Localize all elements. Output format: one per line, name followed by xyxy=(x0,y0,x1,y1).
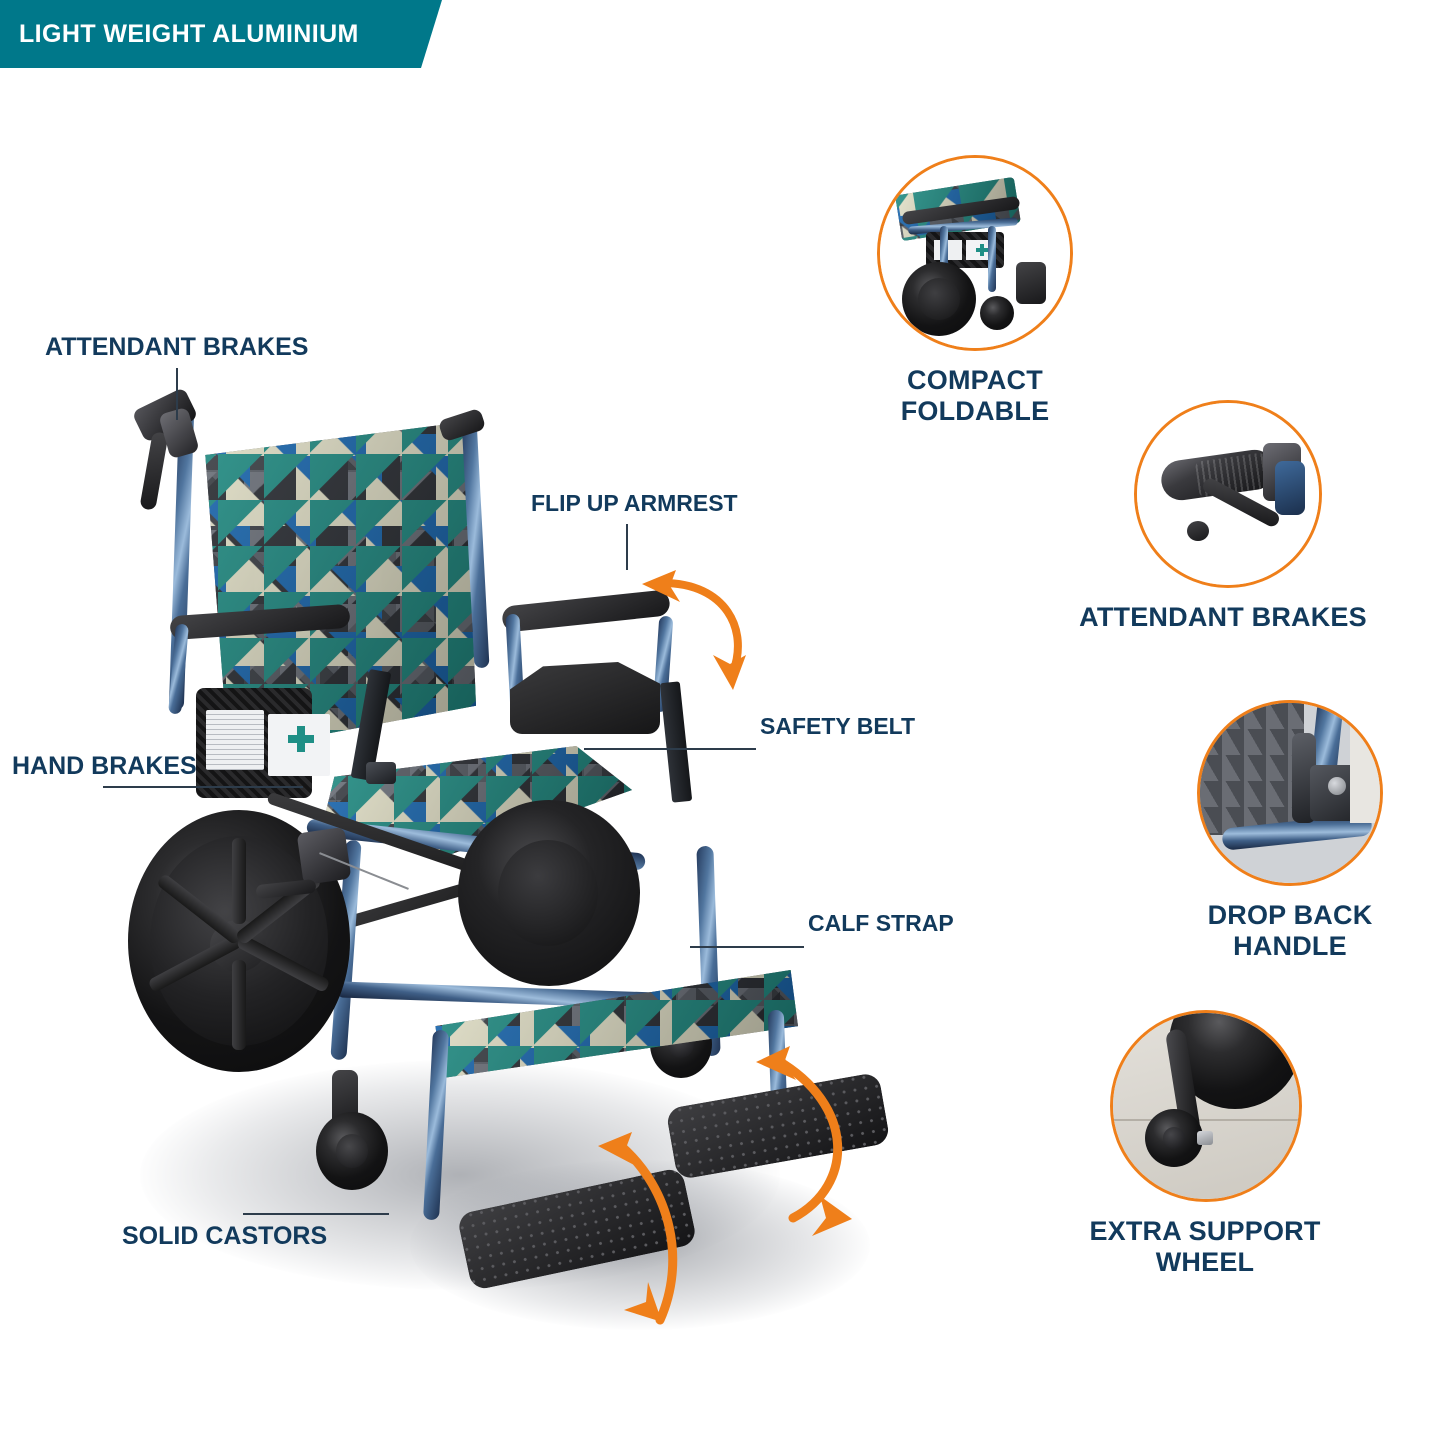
folded-vertical-frame-2 xyxy=(988,226,996,292)
wheel-spoke xyxy=(232,960,246,1050)
support-roller-wheel xyxy=(1145,1109,1203,1167)
brake-lever-tip xyxy=(1187,521,1209,541)
folded-front-castor xyxy=(980,296,1014,330)
main-product-photo xyxy=(110,370,900,1330)
folded-footplate xyxy=(1016,262,1046,304)
header-banner: LIGHT WEIGHT ALUMINIUM xyxy=(0,0,442,68)
callout-flip-up-armrest: FLIP UP ARMREST xyxy=(531,490,738,517)
drop-back-handle-photo xyxy=(1200,703,1380,883)
floor-tile-seam xyxy=(1113,1119,1299,1121)
front-castor-left xyxy=(316,1112,388,1190)
caption-line-2: WHEEL xyxy=(1050,1247,1360,1278)
banner-label: LIGHT WEIGHT ALUMINIUM xyxy=(0,20,359,49)
wheel-spoke xyxy=(232,838,246,924)
flip-up-armrest-leader xyxy=(626,524,628,570)
folded-brand-cross-icon xyxy=(976,244,988,256)
caption-line-2: HANDLE xyxy=(1135,931,1445,962)
drop-back-handle-image xyxy=(1197,700,1383,886)
latch-bolt xyxy=(1328,777,1346,795)
hand-brakes-leader xyxy=(103,786,303,788)
left-attendant-brake-lever xyxy=(139,431,168,511)
solid-castors-leader xyxy=(243,1213,389,1215)
brand-cross-icon xyxy=(288,726,314,752)
calf-strap-leader xyxy=(690,946,804,948)
feature-attendant-brakes: ATTENDANT BRAKES xyxy=(1128,400,1328,633)
infographic-canvas: LIGHT WEIGHT ALUMINIUM xyxy=(0,0,1445,1445)
compact-foldable-caption: COMPACT FOLDABLE xyxy=(875,365,1075,427)
roller-axle-bolt xyxy=(1197,1131,1213,1145)
extra-support-wheel-image xyxy=(1110,1010,1302,1202)
product-spec-label xyxy=(206,710,264,770)
background-wall xyxy=(1350,703,1383,823)
brake-lever-photo xyxy=(1137,403,1319,585)
attendant-brakes-image xyxy=(1134,400,1322,588)
wheel-right-inner xyxy=(498,840,598,946)
caption-line-1: DROP BACK xyxy=(1135,900,1445,931)
attendant-brakes-leader xyxy=(176,368,178,420)
extra-support-wheel-caption: EXTRA SUPPORT WHEEL xyxy=(1050,1216,1360,1278)
safety-belt-leader xyxy=(584,748,756,750)
safety-belt-right-strap xyxy=(660,681,692,802)
caption-line-1: COMPACT FOLDABLE xyxy=(875,365,1075,427)
frame-tube-behind xyxy=(1275,461,1305,515)
caption-line-1: ATTENDANT BRAKES xyxy=(1058,602,1388,633)
callout-solid-castors: SOLID CASTORS xyxy=(122,1222,327,1251)
compact-foldable-image xyxy=(877,155,1073,351)
roller-inner xyxy=(1163,1127,1185,1149)
rear-wheel-right xyxy=(458,800,640,986)
callout-attendant-brakes: ATTENDANT BRAKES xyxy=(45,333,308,362)
folded-wheel-inner xyxy=(918,278,960,320)
right-armrest-pad xyxy=(501,589,671,632)
folded-spec-label xyxy=(934,240,962,260)
support-wheel-photo xyxy=(1113,1013,1299,1199)
folded-rear-wheel xyxy=(902,262,976,336)
castor-inner xyxy=(336,1134,368,1168)
callout-hand-brakes: HAND BRAKES xyxy=(12,752,197,781)
drop-back-handle-caption: DROP BACK HANDLE xyxy=(1135,900,1445,962)
right-side-guard xyxy=(510,662,660,734)
callout-calf-strap: CALF STRAP xyxy=(808,910,954,937)
folded-wheelchair-photo xyxy=(880,158,1070,348)
attendant-brakes-caption: ATTENDANT BRAKES xyxy=(1058,602,1388,633)
safety-belt-buckle xyxy=(366,762,396,784)
feature-drop-back-handle: DROP BACK HANDLE xyxy=(1195,700,1385,962)
callout-safety-belt: SAFETY BELT xyxy=(760,713,915,740)
feature-extra-support-wheel: EXTRA SUPPORT WHEEL xyxy=(1110,1010,1300,1278)
feature-compact-foldable: COMPACT FOLDABLE xyxy=(875,155,1075,427)
caption-line-1: EXTRA SUPPORT xyxy=(1050,1216,1360,1247)
textured-panel xyxy=(1200,703,1304,835)
